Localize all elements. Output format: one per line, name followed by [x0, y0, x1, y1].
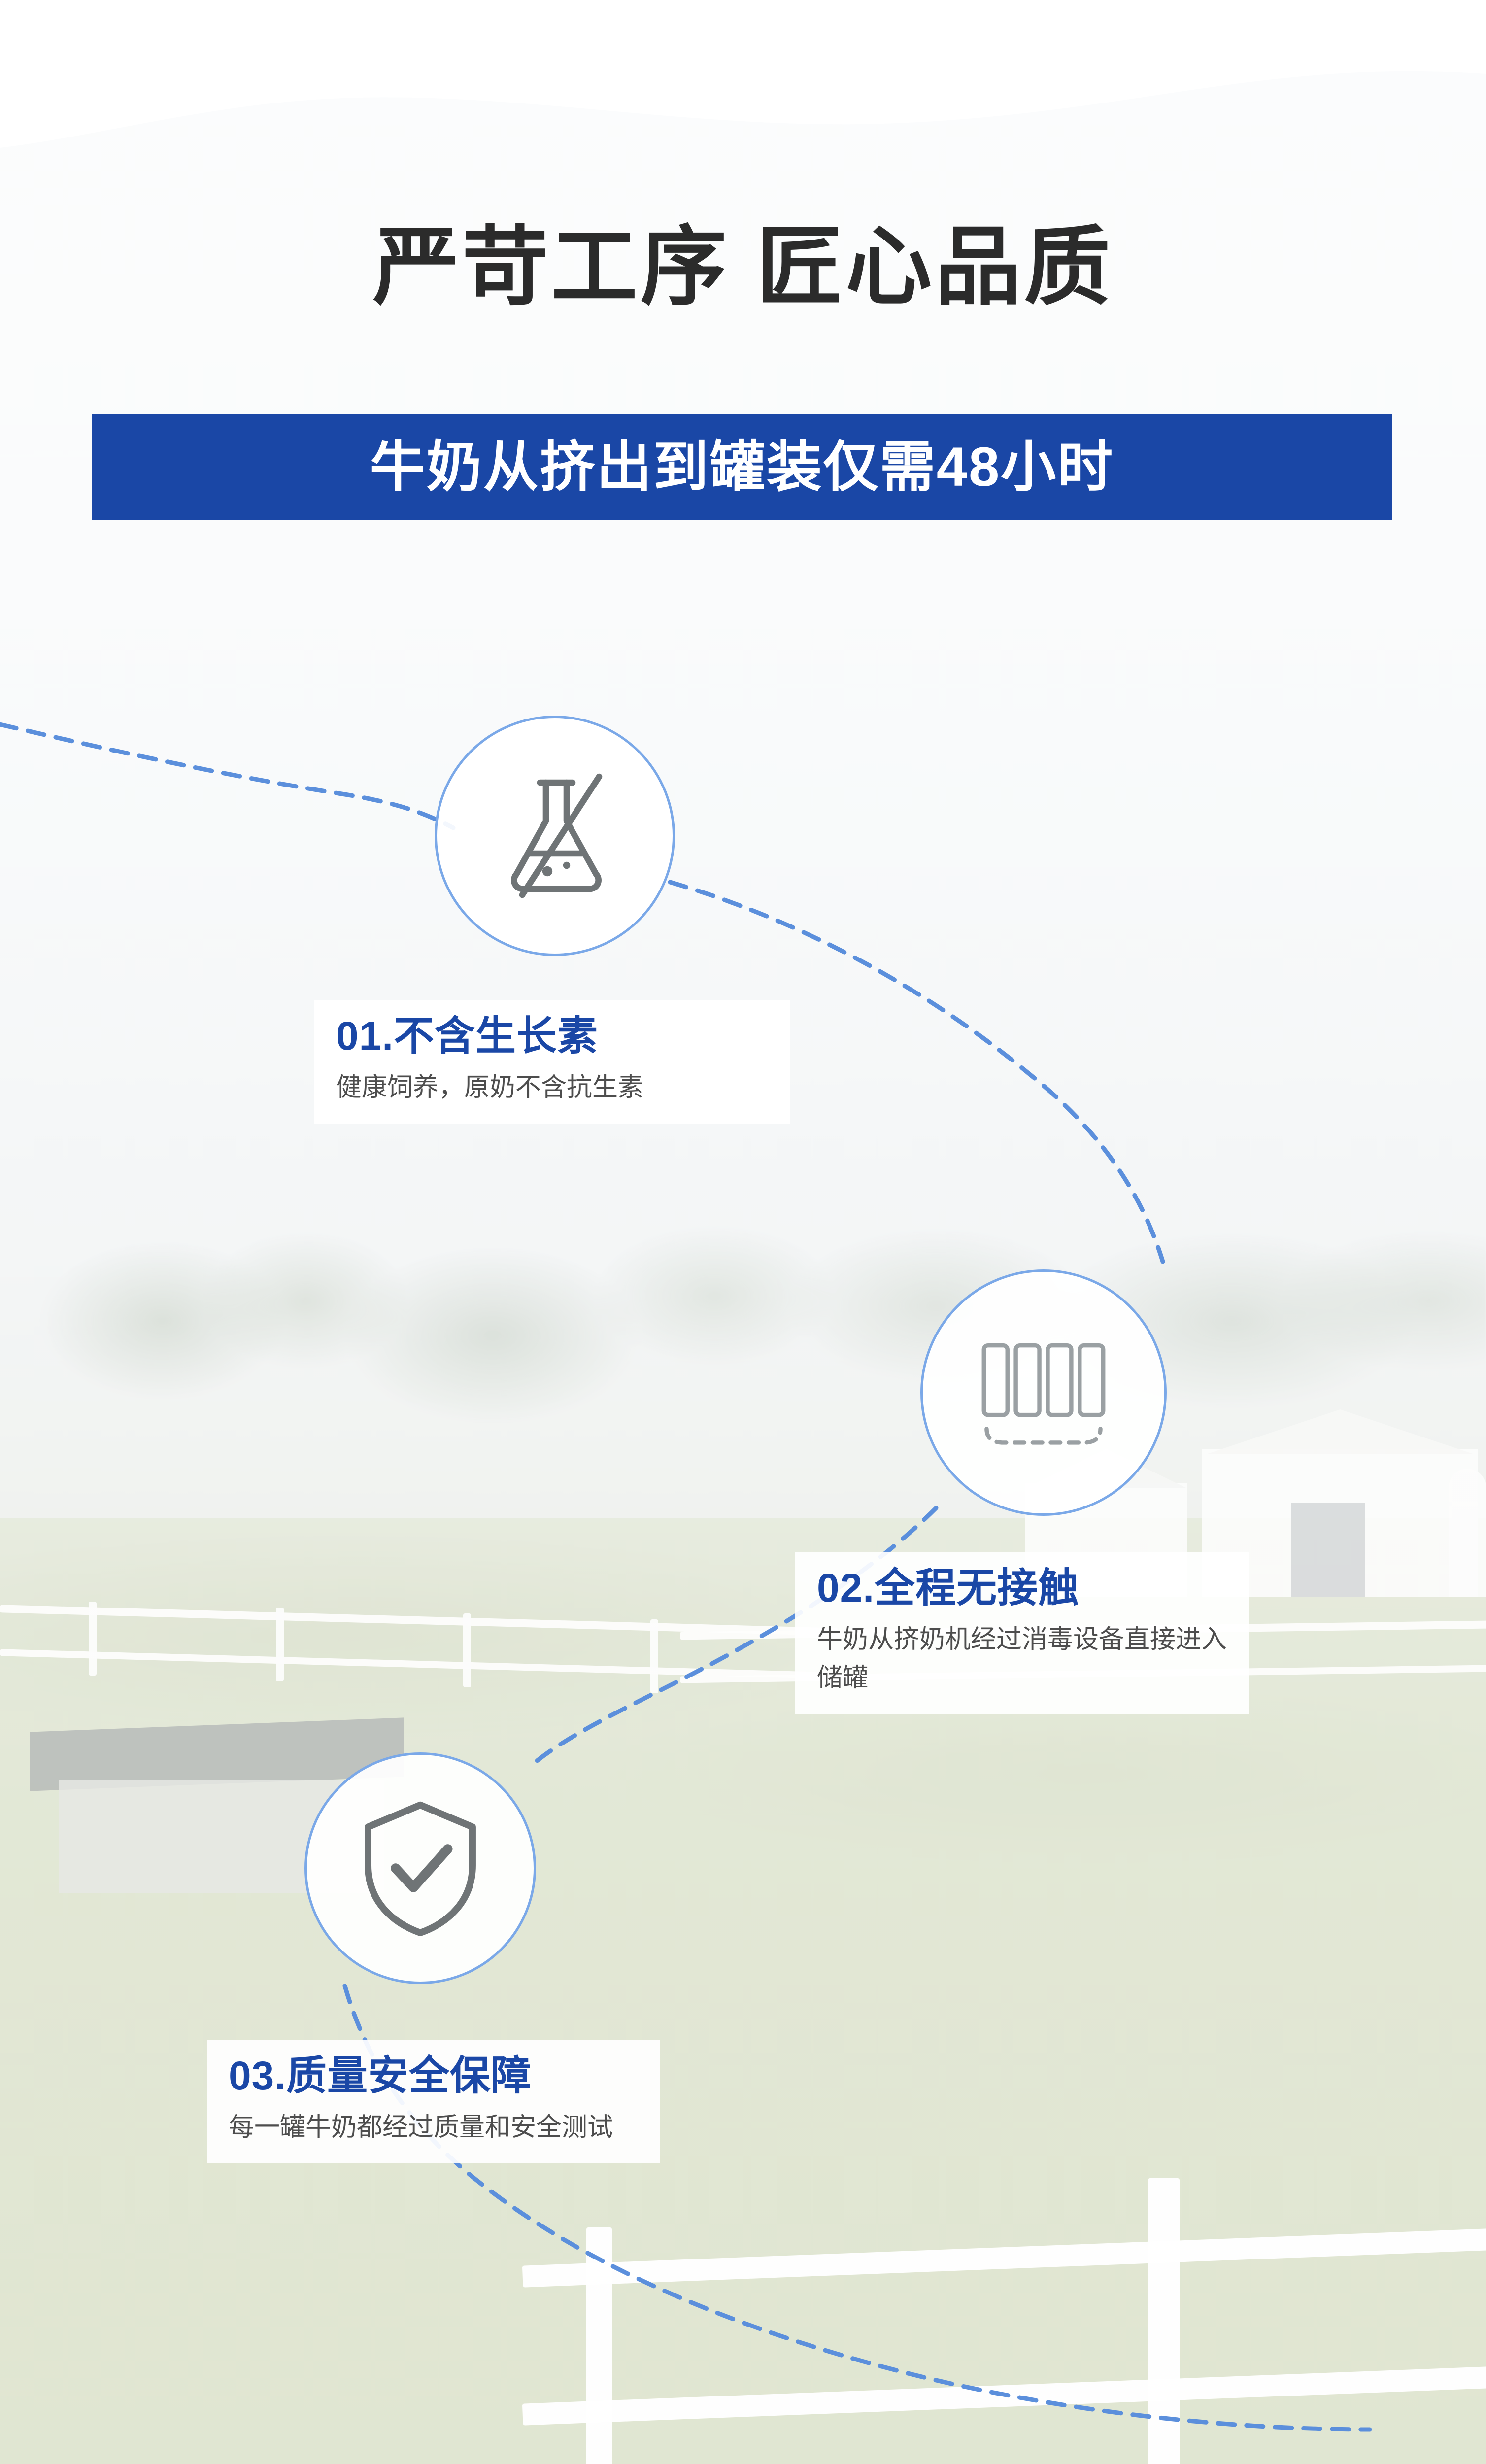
- step-3-title: 03.质量安全保障: [229, 2053, 639, 2099]
- flask-no-growth-hormone-icon: [481, 762, 629, 910]
- step-3-desc: 每一罐牛奶都经过质量和安全测试: [229, 2108, 639, 2147]
- step-2-title: 02.全程无接触: [817, 1565, 1227, 1611]
- step-2-icon-circle: [920, 1269, 1167, 1516]
- step-1-icon-circle: [435, 716, 675, 956]
- subheadline-text: 牛奶从挤出到罐装仅需48小时: [370, 440, 1114, 495]
- step-1-title: 01.不含生长素: [336, 1013, 769, 1060]
- page-headline: 严苛工序 匠心品质: [0, 224, 1486, 310]
- step-2-desc: 牛奶从挤奶机经过消毒设备直接进入储罐: [817, 1620, 1227, 1697]
- subheadline-bar: 牛奶从挤出到罐装仅需48小时: [92, 414, 1392, 520]
- shield-check-quality-icon: [351, 1797, 489, 1940]
- step-1-card: 01.不含生长素 健康饲养，原奶不含抗生素: [314, 1000, 790, 1124]
- storage-tanks-contactless-icon: [967, 1319, 1120, 1467]
- step-3-icon-circle: [304, 1752, 536, 1984]
- step-2-card: 02.全程无接触 牛奶从挤奶机经过消毒设备直接进入储罐: [795, 1552, 1249, 1714]
- step-3-card: 03.质量安全保障 每一罐牛奶都经过质量和安全测试: [207, 2040, 660, 2163]
- step-1-desc: 健康饲养，原奶不含抗生素: [336, 1068, 769, 1107]
- promo-page: 严苛工序 匠心品质 牛奶从挤出到罐装仅需48小时 01.不含生长素 健康饲养，原…: [0, 0, 1486, 2464]
- top-wave-decoration: [0, 0, 1486, 177]
